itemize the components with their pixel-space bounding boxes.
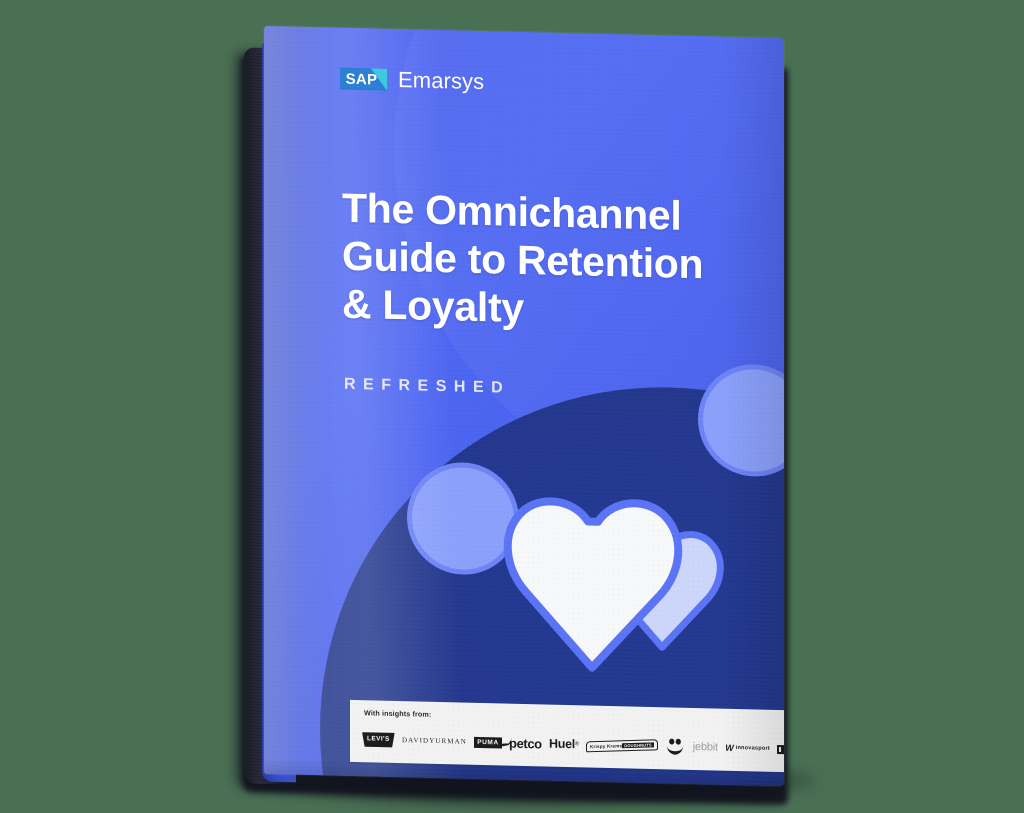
bne-logo-square <box>777 744 784 753</box>
david-yurman-logo-icon: DAVID YURMAN <box>402 736 467 746</box>
innovasport-logo-icon: W innovasport <box>725 743 770 754</box>
partner-logo-strip: LEVI'S DAVID YURMAN PUMA petco Huel® <box>362 724 784 765</box>
cover-kicker: REFRESHED <box>344 376 510 398</box>
puma-logo-icon: PUMA <box>474 736 502 748</box>
jebbit-logo-icon: jebbit <box>693 741 718 754</box>
david-yurman-line-2: YURMAN <box>429 737 467 746</box>
innovasport-mark: W <box>725 743 733 753</box>
huel-logo-icon: Huel® <box>549 737 579 752</box>
krispy-kreme-line-1: Krispy Kreme <box>590 742 622 748</box>
canvas-stage: SAP Emarsys The Omnichannel Guide to Ret… <box>0 0 1024 813</box>
cover-title-line-3: & Loyalty <box>342 280 762 338</box>
sap-logo-text: SAP <box>346 70 382 88</box>
bne-logo-icon: BNE <box>777 742 784 757</box>
levis-logo-icon: LEVI'S <box>362 732 395 748</box>
puma-cat-icon <box>497 736 513 747</box>
cover-edge-highlight <box>264 26 330 776</box>
smiley-face-logo-icon <box>665 737 685 755</box>
huel-wordmark: Huel <box>549 737 575 752</box>
david-yurman-line-1: DAVID <box>402 736 429 745</box>
krispy-kreme-logo-icon: Krispy Kreme DOUGHNUTS <box>586 739 658 752</box>
cover-title: The Omnichannel Guide to Retention & Loy… <box>342 184 762 338</box>
book-front-cover: SAP Emarsys The Omnichannel Guide to Ret… <box>264 26 784 786</box>
brand-lockup: SAP Emarsys <box>340 66 484 95</box>
emarsys-wordmark: Emarsys <box>398 67 484 95</box>
ebook-3d-mockup: SAP Emarsys The Omnichannel Guide to Ret… <box>236 18 784 790</box>
heart-front-shape <box>508 500 678 669</box>
petco-logo-icon: petco <box>509 735 542 751</box>
innovasport-wordmark: innovasport <box>736 745 770 752</box>
hearts-illustration <box>496 483 756 689</box>
sap-logo-icon: SAP <box>340 68 387 91</box>
insights-label: With insights from: <box>364 708 431 719</box>
krispy-kreme-line-2: DOUGHNUTS <box>623 742 655 748</box>
